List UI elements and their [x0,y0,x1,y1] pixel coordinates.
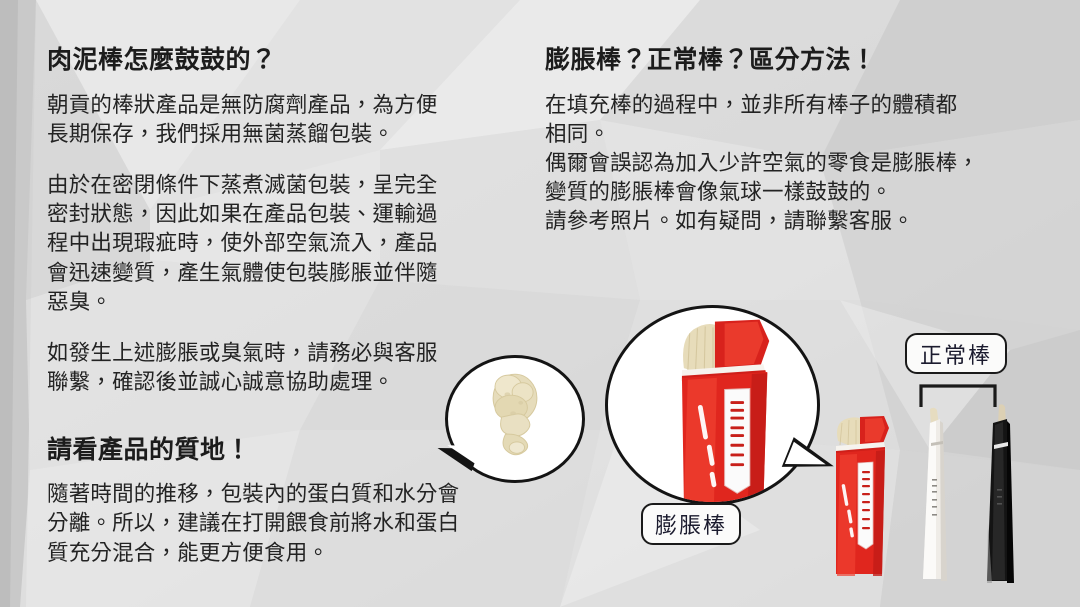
product-photo-area: 膨脹棒 正常棒 [425,295,1080,607]
label-swollen-stick: 膨脹棒 [641,503,741,545]
label-normal-stick: 正常棒 [905,333,1007,374]
swollen-bubble-disc [605,305,820,505]
left-paragraph-1: 朝貢的棒狀產品是無防腐劑產品，為方便 長期保存，我們採用無菌蒸餾包裝。 [47,91,507,149]
left-heading-1: 肉泥棒怎麼鼓鼓的？ [47,44,507,77]
left-text-column: 肉泥棒怎麼鼓鼓的？ 朝貢的棒狀產品是無防腐劑產品，為方便 長期保存，我們採用無菌… [47,44,507,568]
left-heading-2: 請看產品的質地！ [47,434,507,467]
swollen-red-stick-photo [820,413,890,578]
left-paragraph-2: 由於在密閉條件下蒸煮滅菌包裝，呈完全 密封狀態，因此如果在產品包裝、運輸過 程中… [47,171,507,317]
swollen-stick-speech-bubble [605,305,820,505]
right-heading-1: 膨脹棒？正常棒？區分方法！ [545,44,1045,77]
right-paragraph-1: 在填充棒的過程中，並非所有棒子的體積都 相同。 偶爾會誤認為加入少許空氣的零食是… [545,91,1045,237]
normal-white-stick-photo [910,405,956,585]
normal-sticks-bracket [919,383,997,409]
left-paragraph-3: 如發生上述膨脹或臭氣時，請務必與客服 聯繫，確認後並誠心誠意協助處理。 [47,339,507,397]
left-paragraph-4: 隨著時間的推移，包裝內的蛋白質和水分會 分離。所以，建議在打開餵食前將水和蛋白 … [47,480,507,568]
swollen-red-stick-illustration [608,308,817,502]
right-text-column: 膨脹棒？正常棒？區分方法！ 在填充棒的過程中，並非所有棒子的體積都 相同。 偶爾… [545,44,1045,237]
normal-black-stick-photo [973,403,1025,585]
